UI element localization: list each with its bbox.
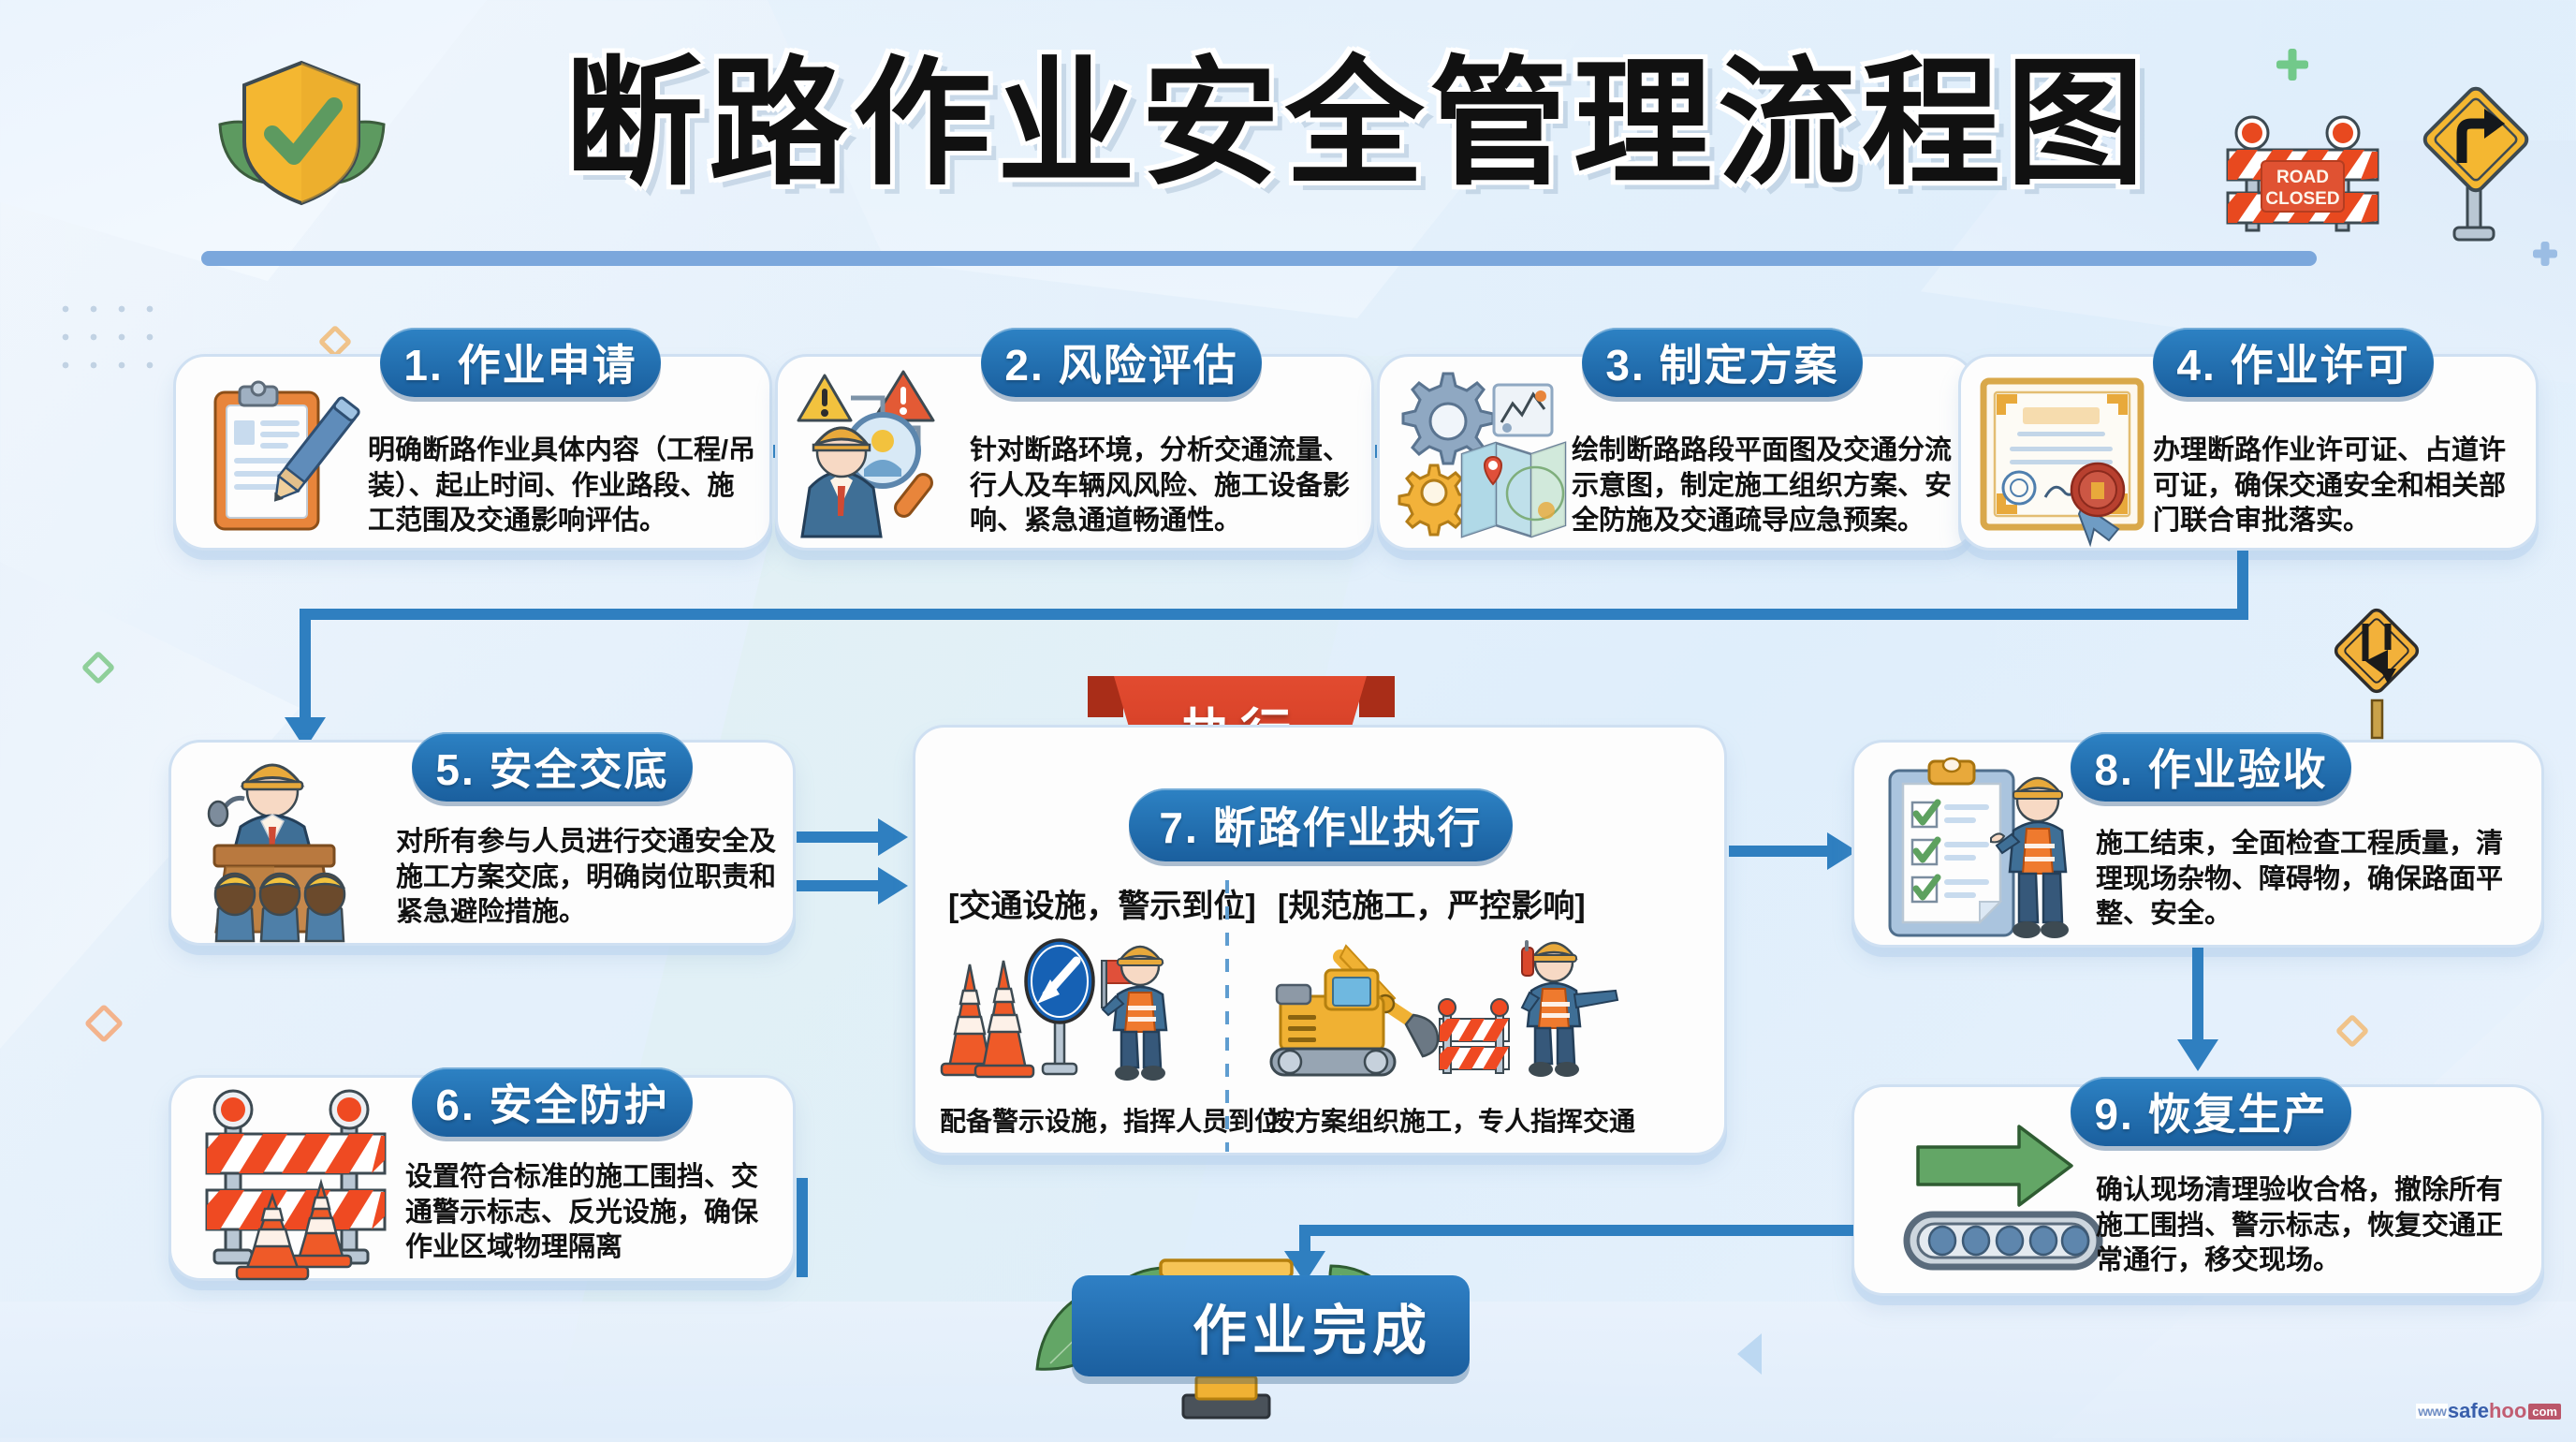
header: 断路作业安全管理流程图 — [0, 0, 2576, 281]
execution-left-label: [交通设施，警示到位] — [948, 880, 1256, 926]
step-title-6[interactable]: 6. 安全防护 — [412, 1067, 693, 1137]
certificate-seal-icon — [1978, 374, 2146, 537]
triangle-decor — [1737, 1333, 1762, 1375]
checklist-inspector-icon — [1871, 748, 2086, 947]
barricade-cones-icon — [194, 1085, 395, 1278]
watermark-hoo: hoo — [2489, 1399, 2526, 1423]
step-title-8[interactable]: 8. 作业验收 — [2071, 732, 2351, 802]
shield-check-leaves-icon — [201, 51, 402, 239]
execution-right-label: [规范施工，严控影响] — [1278, 880, 1586, 926]
excavator-barricade-director-icon — [1254, 933, 1629, 1087]
green-arrow-conveyor-icon — [1894, 1113, 2109, 1273]
step-desc-1: 明确断路作业具体内容（工程/吊装）、起止时间、作业路段、施工范围及交通影响评估。 — [368, 434, 759, 539]
svg-text:ROAD: ROAD — [2276, 168, 2329, 187]
step-desc-2: 针对断路环境，分析交通流量、行人及车辆风风险、施工设备影响、紧急通道畅通性。 — [970, 434, 1361, 539]
connector-5-7-arrow — [878, 818, 908, 856]
road-closed-sign: ROAD CLOSED — [2215, 103, 2393, 225]
connector-7-8 — [1729, 846, 1839, 857]
finish-banner: 作业完成 — [1072, 1275, 1470, 1376]
execution-left-caption: 配备警示设施，指挥人员到位 — [940, 1101, 1281, 1139]
svg-text:CLOSED: CLOSED — [2265, 189, 2339, 209]
connector-row1-to-row2 — [300, 609, 2248, 620]
step-title-1[interactable]: 1. 作业申请 — [380, 328, 661, 397]
title-underline-bar — [201, 251, 2317, 266]
diamond-decor-4 — [2335, 1014, 2370, 1049]
watermark: www safe hoo com — [2416, 1399, 2561, 1423]
diamond-decor-3 — [84, 1004, 124, 1043]
step-title-3[interactable]: 3. 制定方案 — [1582, 328, 1863, 397]
execution-right-caption: 按方案组织施工，专人指挥交通 — [1268, 1101, 1635, 1139]
step-title-5[interactable]: 5. 安全交底 — [412, 732, 693, 802]
infographic-canvas: 断路作业安全管理流程图 — [0, 0, 2576, 1438]
gears-map-icon — [1393, 368, 1571, 546]
connector-8-9 — [2192, 948, 2203, 1052]
step-desc-8: 施工结束，全面检查工程质量，清理现场杂物、障碍物，确保路面平整、安全。 — [2096, 827, 2528, 933]
page-title: 断路作业安全管理流程图 — [468, 36, 2247, 213]
watermark-com: com — [2528, 1404, 2561, 1420]
clipboard-pen-icon — [198, 372, 358, 540]
step-desc-3: 绘制断路路段平面图及交通分流示意图，制定施工组织方案、安全防施及交通疏导应急预案… — [1572, 434, 1963, 539]
step-title-7[interactable]: 7. 断路作业执行 — [1129, 788, 1513, 861]
connector-6-7-arrow — [878, 867, 908, 905]
podium-briefing-icon — [192, 748, 384, 945]
connector-6-up — [797, 1178, 808, 1277]
dot-grid-decoration — [51, 295, 164, 389]
connector-4-down — [2237, 551, 2248, 614]
watermark-www: www — [2416, 1404, 2448, 1419]
connector-5-7 — [797, 831, 890, 843]
connector-6-7 — [797, 880, 890, 891]
watermark-safe: safe — [2448, 1399, 2489, 1423]
connector-8-9-arrow — [2177, 1039, 2218, 1071]
step-desc-4: 办理断路作业许可证、占道许可证，确保交通安全和相关部门联合审批落实。 — [2153, 434, 2527, 539]
step-title-4[interactable]: 4. 作业许可 — [2153, 328, 2434, 397]
turn-right-sign-icon — [2415, 82, 2537, 242]
step-title-9[interactable]: 9. 恢复生产 — [2071, 1077, 2351, 1146]
step-title-2[interactable]: 2. 风险评估 — [981, 328, 1262, 397]
merge-warning-sign-icon — [2327, 607, 2430, 738]
connector-9-finish — [1299, 1225, 1853, 1236]
connector-down-to-5 — [300, 609, 311, 730]
risk-inspector-magnifier-icon — [793, 366, 961, 544]
step-desc-9: 确认现场清理验收合格，撤除所有施工围挡、警示标志，恢复交通正常通行，移交现场。 — [2096, 1173, 2528, 1279]
step-desc-6: 设置符合标准的施工围挡、交通警示标志、反光设施，确保作业区域物理隔离 — [405, 1160, 782, 1266]
cones-detour-sign-flagger-icon — [936, 936, 1207, 1086]
step-desc-5: 对所有参与人员进行交通安全及施工方案交底，明确岗位职责和紧急避险措施。 — [396, 825, 782, 931]
